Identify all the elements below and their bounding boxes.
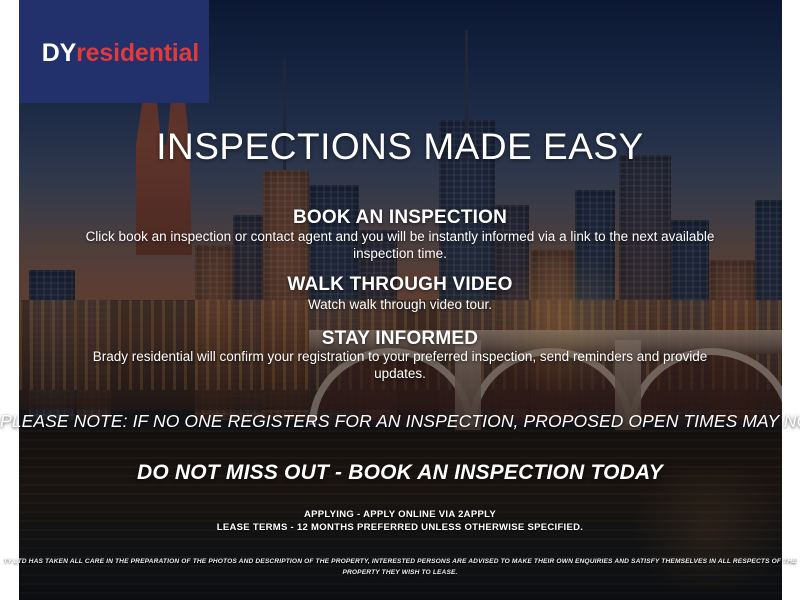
please-note-notice: PLEASE NOTE: IF NO ONE REGISTERS FOR AN … bbox=[0, 411, 800, 432]
section-body-stay-informed: Brady residential will confirm your regi… bbox=[80, 348, 720, 382]
call-to-action-text: DO NOT MISS OUT - BOOK AN INSPECTION TOD… bbox=[0, 461, 800, 485]
section-title-book-an-inspection: BOOK AN INSPECTION bbox=[0, 207, 800, 229]
applying-info: APPLYING - APPLY ONLINE VIA 2APPLY bbox=[0, 509, 800, 520]
section-body-walk-through-video: Watch walk through video tour. bbox=[80, 296, 720, 313]
section-title-walk-through-video: WALK THROUGH VIDEO bbox=[0, 274, 800, 296]
legal-disclaimer: TY LTD HAS TAKEN ALL CARE IN THE PREPARA… bbox=[0, 556, 800, 578]
section-body-book-an-inspection: Click book an inspection or contact agen… bbox=[80, 228, 720, 262]
section-title-stay-informed: STAY INFORMED bbox=[0, 328, 800, 350]
lease-terms-info: LEASE TERMS - 12 MONTHS PREFERRED UNLESS… bbox=[0, 522, 800, 533]
page-title: INSPECTIONS MADE EASY bbox=[0, 126, 800, 168]
overlay-text-layer: INSPECTIONS MADE EASY BOOK AN INSPECTION… bbox=[0, 0, 800, 600]
advertisement-image: DYresidential INSPECTIONS MADE EASY BOOK… bbox=[0, 0, 800, 600]
